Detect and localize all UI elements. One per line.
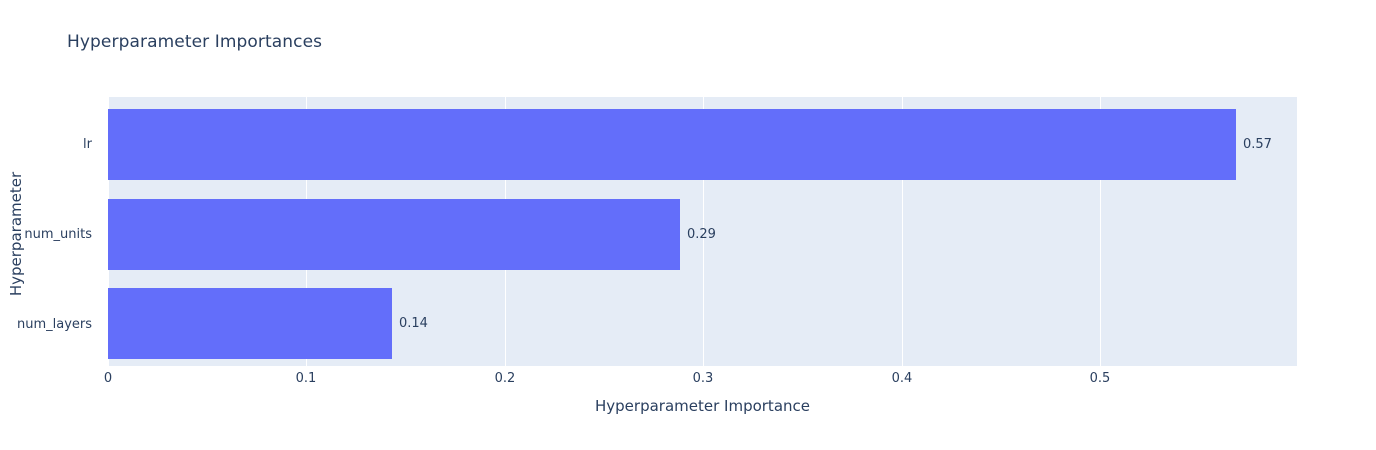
bar-num-units[interactable] bbox=[108, 199, 680, 270]
x-tick-label-0-5: 0.5 bbox=[1090, 371, 1111, 386]
bar-row-num-layers: 0.14 bbox=[108, 276, 1297, 366]
plot-area: 0.57 0.29 0.14 bbox=[108, 97, 1297, 366]
x-tick-label-0-4: 0.4 bbox=[892, 371, 913, 386]
chart-title: Hyperparameter Importances bbox=[67, 32, 322, 52]
bar-row-lr: 0.57 bbox=[108, 97, 1297, 187]
x-tick-label-0: 0 bbox=[104, 371, 112, 386]
x-tick-label-0-2: 0.2 bbox=[495, 371, 516, 386]
x-tick-label-0-3: 0.3 bbox=[693, 371, 714, 386]
x-tick-label-0-1: 0.1 bbox=[296, 371, 317, 386]
x-axis-title: Hyperparameter Importance bbox=[108, 397, 1297, 415]
chart-figure: Hyperparameter Importances Hyperparamete… bbox=[0, 0, 1376, 450]
bar-value-num-layers: 0.14 bbox=[392, 288, 428, 359]
y-axis-title: Hyperparameter bbox=[7, 159, 25, 309]
bar-num-layers[interactable] bbox=[108, 288, 392, 359]
bar-row-num-units: 0.29 bbox=[108, 187, 1297, 277]
bar-lr[interactable] bbox=[108, 109, 1236, 180]
bar-value-num-units: 0.29 bbox=[680, 199, 716, 270]
bar-value-lr: 0.57 bbox=[1236, 109, 1272, 180]
